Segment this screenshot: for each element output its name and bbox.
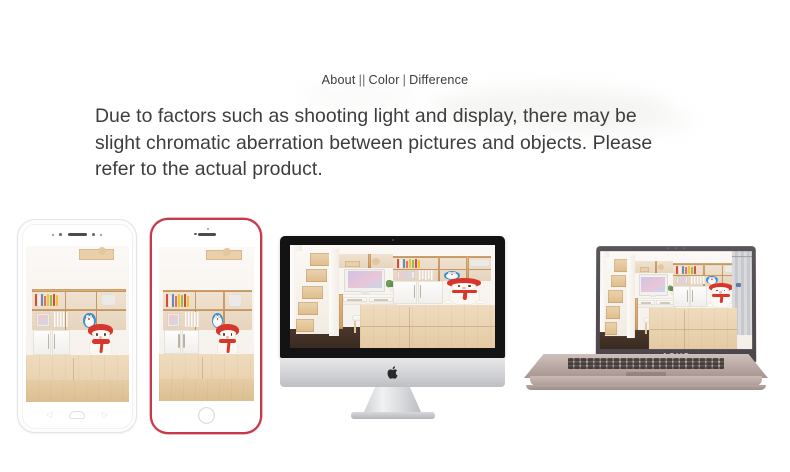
desk-with-drawers (635, 298, 676, 308)
imac-facetime-camera-icon (392, 239, 394, 241)
plush-bear (446, 278, 483, 305)
picture-frame (397, 271, 415, 279)
room-photo-wide-2 (600, 251, 752, 349)
top-shelf-ball (223, 248, 231, 256)
stair-step (302, 286, 323, 299)
picture-frame (167, 313, 180, 327)
cabinet-door-left (33, 330, 52, 355)
curtain-tieback (736, 283, 742, 287)
phone-screen-room-photo (26, 246, 129, 402)
bed-seam (73, 358, 74, 380)
cabinet-door-left (673, 286, 690, 307)
phone-sensor-row (22, 224, 133, 246)
bed-front-panel (26, 380, 129, 402)
stair-step (608, 290, 623, 303)
curtain-rod (732, 256, 752, 257)
bed-seam (202, 357, 203, 379)
bed-front-panel (159, 379, 254, 401)
stair-step (611, 275, 626, 288)
cubby-ball (658, 264, 664, 270)
plush-bear (708, 283, 734, 308)
laptop-screen-room-photo (600, 251, 752, 349)
ceramic-jar (229, 295, 241, 307)
laptop-keyboard-base (524, 354, 768, 378)
imac-display-panel (280, 236, 505, 358)
monitor-screen (641, 277, 665, 293)
imac-stand-base (351, 412, 435, 419)
iphone-earpiece-icon (198, 233, 216, 236)
desk-with-drawers (339, 294, 396, 304)
shelf-top-edge (32, 289, 127, 292)
laptop-lid: ASUS (596, 246, 756, 362)
cabinet-door-right (182, 330, 199, 355)
stair-step (310, 253, 330, 266)
iphone-chin (155, 401, 258, 430)
sensor-dot-icon (52, 234, 54, 236)
picture-frame (676, 276, 688, 284)
top-shelf-ball (98, 247, 106, 255)
iphone-sensor-row (155, 223, 258, 247)
desk-drawer-right (369, 297, 393, 303)
shelf-divider-vertical-1 (438, 256, 441, 281)
desk-monitor (640, 275, 667, 295)
desk-side-panel (339, 294, 343, 329)
bed-seam-2 (649, 329, 737, 330)
storage-staircase (604, 258, 629, 337)
stair-step (614, 259, 628, 272)
shelf-divider-horizontal (32, 309, 127, 311)
earpiece-speaker-icon (68, 233, 87, 236)
stair-step (605, 306, 620, 319)
shelf-books (166, 294, 189, 306)
storage-staircase (296, 251, 331, 333)
ceramic-jar (102, 295, 115, 307)
magazine-stack (185, 312, 199, 327)
imac-stand-neck (364, 387, 422, 413)
magazine-stack (419, 270, 433, 279)
cubby-ball (372, 258, 380, 264)
iphone-screen-room-photo (159, 247, 254, 401)
room-photo-narrow (26, 246, 129, 402)
imac-screen-room-photo (290, 245, 495, 348)
desk-monitor (345, 270, 384, 292)
magazine-stack (691, 276, 705, 285)
cabinet-door-left (164, 330, 181, 355)
magazine-stack (54, 312, 68, 328)
phone-navigation-bar[interactable]: ◁ ▷ (22, 402, 133, 429)
device-red-iphone (152, 220, 260, 432)
laptop-keyboard[interactable] (568, 358, 724, 369)
imac-chin (280, 358, 505, 387)
top-shelf-box (79, 249, 114, 260)
nav-home-icon[interactable] (69, 411, 85, 419)
monitor-screen (348, 271, 382, 288)
cabinet-door-right (418, 281, 443, 304)
nav-back-icon[interactable]: ◁ (46, 411, 52, 419)
iphone-home-button[interactable] (198, 407, 215, 424)
cubby-divider (655, 261, 657, 273)
iphone-sensor-dot-icon (207, 228, 209, 230)
phone-bezel: ◁ ▷ (22, 224, 133, 429)
stair-step (306, 269, 327, 282)
room-photo-narrow-2 (159, 247, 254, 401)
cubby-box (640, 267, 649, 272)
product-color-difference-banner: About||Color|Difference Due to factors s… (0, 0, 790, 472)
desk-drawer-left (637, 300, 654, 305)
laptop-webcam-icon (667, 248, 685, 250)
stair-step (604, 322, 617, 335)
stair-side-panel (329, 249, 339, 336)
front-camera-icon (59, 233, 62, 236)
nav-recents-icon[interactable]: ▷ (102, 411, 108, 419)
iphone-bezel (155, 223, 258, 430)
bed-seam-2 (360, 326, 495, 327)
shelf-books (397, 259, 420, 267)
apple-logo-icon (386, 365, 399, 379)
iphone-front-camera-icon (194, 233, 197, 236)
stair-step (296, 319, 314, 332)
ceramic-jar (470, 260, 488, 267)
laptop-base-edge (526, 385, 766, 390)
device-asus-laptop: ASUS (524, 246, 768, 396)
device-white-android-phone: ◁ ▷ (18, 220, 136, 432)
shelf-top-edge (163, 290, 251, 293)
cubby-box (345, 261, 359, 266)
desk-drawer-right (656, 300, 673, 305)
light-sensor-icon (100, 234, 102, 236)
room-photo-wide (290, 245, 495, 348)
bed-seam-1 (409, 307, 410, 348)
shelf-divider-horizontal (163, 309, 251, 311)
cabinet-door-right (52, 330, 71, 355)
cubby-divider (368, 254, 371, 267)
desk-drawer-left (343, 297, 367, 303)
desk-side-panel (635, 298, 638, 331)
device-imac (280, 236, 505, 422)
stair-side-panel (627, 256, 635, 339)
proximity-sensor-icon (92, 233, 95, 236)
picture-frame (36, 313, 50, 327)
stair-step (298, 302, 319, 315)
shelf-top-edge (393, 256, 491, 258)
shelf-books (35, 294, 58, 306)
shelf-books (676, 266, 696, 273)
cabinet-door-right (690, 286, 707, 307)
device-showcase: ◁ ▷ (0, 0, 790, 472)
cabinet-door-left (393, 281, 418, 304)
